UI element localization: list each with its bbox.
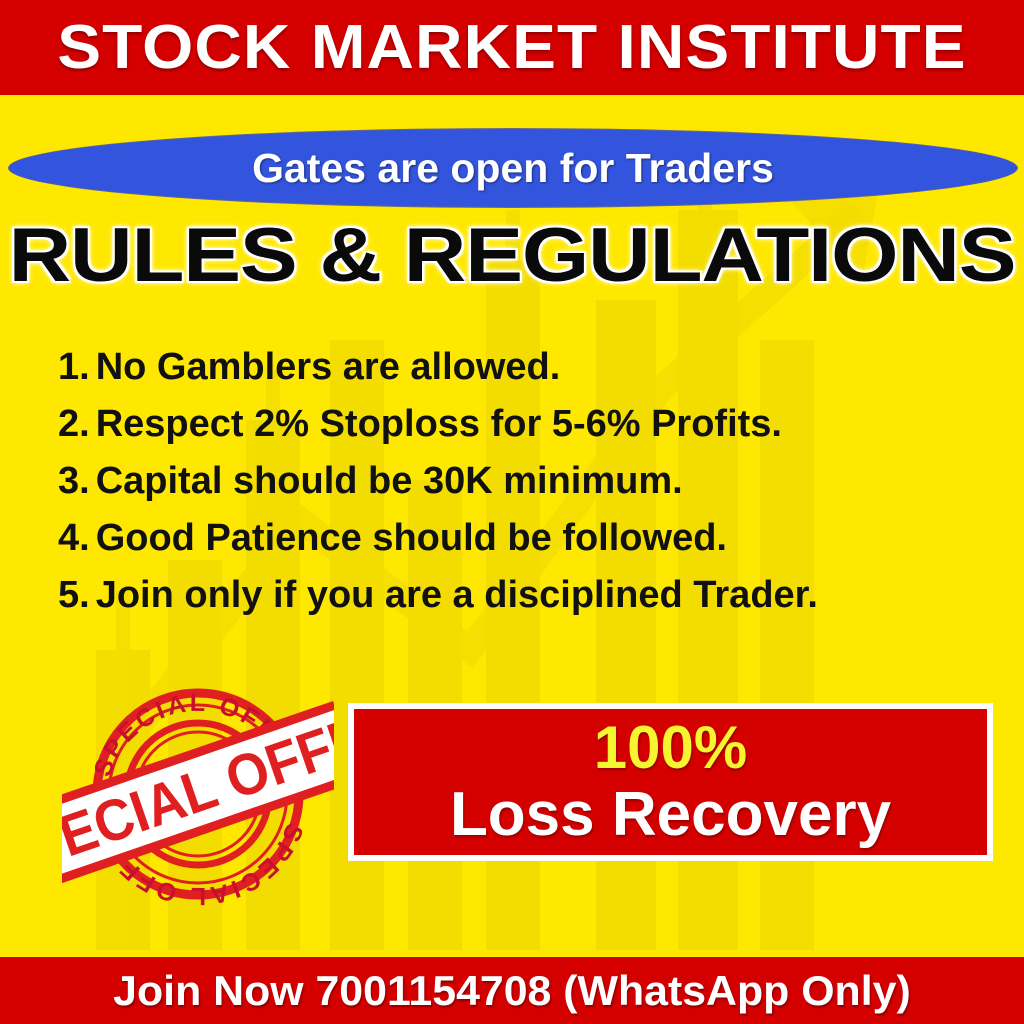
list-item: 1.No Gamblers are allowed. (58, 348, 1008, 386)
special-offer-stamp-icon: SPECIAL OFFER SPECIAL OFFER SPECIAL OFFE… (62, 672, 334, 910)
tagline-text: Gates are open for Traders (8, 128, 1018, 208)
recovery-percent: 100% (594, 718, 747, 778)
header-band: STOCK MARKET INSTITUTE (0, 0, 1024, 95)
list-item: 4.Good Patience should be followed. (58, 519, 1008, 557)
footer-band: Join Now 7001154708 (WhatsApp Only) (0, 957, 1024, 1024)
list-item-text: Respect 2% Stoploss for 5-6% Profits. (96, 403, 782, 445)
rules-list: 1.No Gamblers are allowed. 2.Respect 2% … (58, 348, 1008, 633)
loss-recovery-badge: 100% Loss Recovery (348, 703, 993, 861)
list-item-number: 5. (58, 574, 90, 616)
list-item-number: 3. (58, 460, 90, 502)
list-item-text: No Gamblers are allowed. (96, 346, 561, 388)
page-title: STOCK MARKET INSTITUTE (57, 17, 966, 79)
tagline-banner: Gates are open for Traders (8, 128, 1018, 208)
list-item-number: 4. (58, 517, 90, 559)
list-item-number: 2. (58, 403, 90, 445)
section-heading: RULES & REGULATIONS (0, 218, 1024, 294)
footer-contact-text: Join Now 7001154708 (WhatsApp Only) (113, 970, 911, 1012)
list-item: 5.Join only if you are a disciplined Tra… (58, 576, 1008, 614)
recovery-label: Loss Recovery (450, 784, 891, 846)
list-item-text: Capital should be 30K minimum. (96, 460, 683, 502)
list-item: 3.Capital should be 30K minimum. (58, 462, 1008, 500)
list-item: 2.Respect 2% Stoploss for 5-6% Profits. (58, 405, 1008, 443)
list-item-number: 1. (58, 346, 90, 388)
list-item-text: Good Patience should be followed. (96, 517, 727, 559)
poster-canvas: STOCK MARKET INSTITUTE Gates are open fo… (0, 0, 1024, 1024)
list-item-text: Join only if you are a disciplined Trade… (96, 574, 818, 616)
